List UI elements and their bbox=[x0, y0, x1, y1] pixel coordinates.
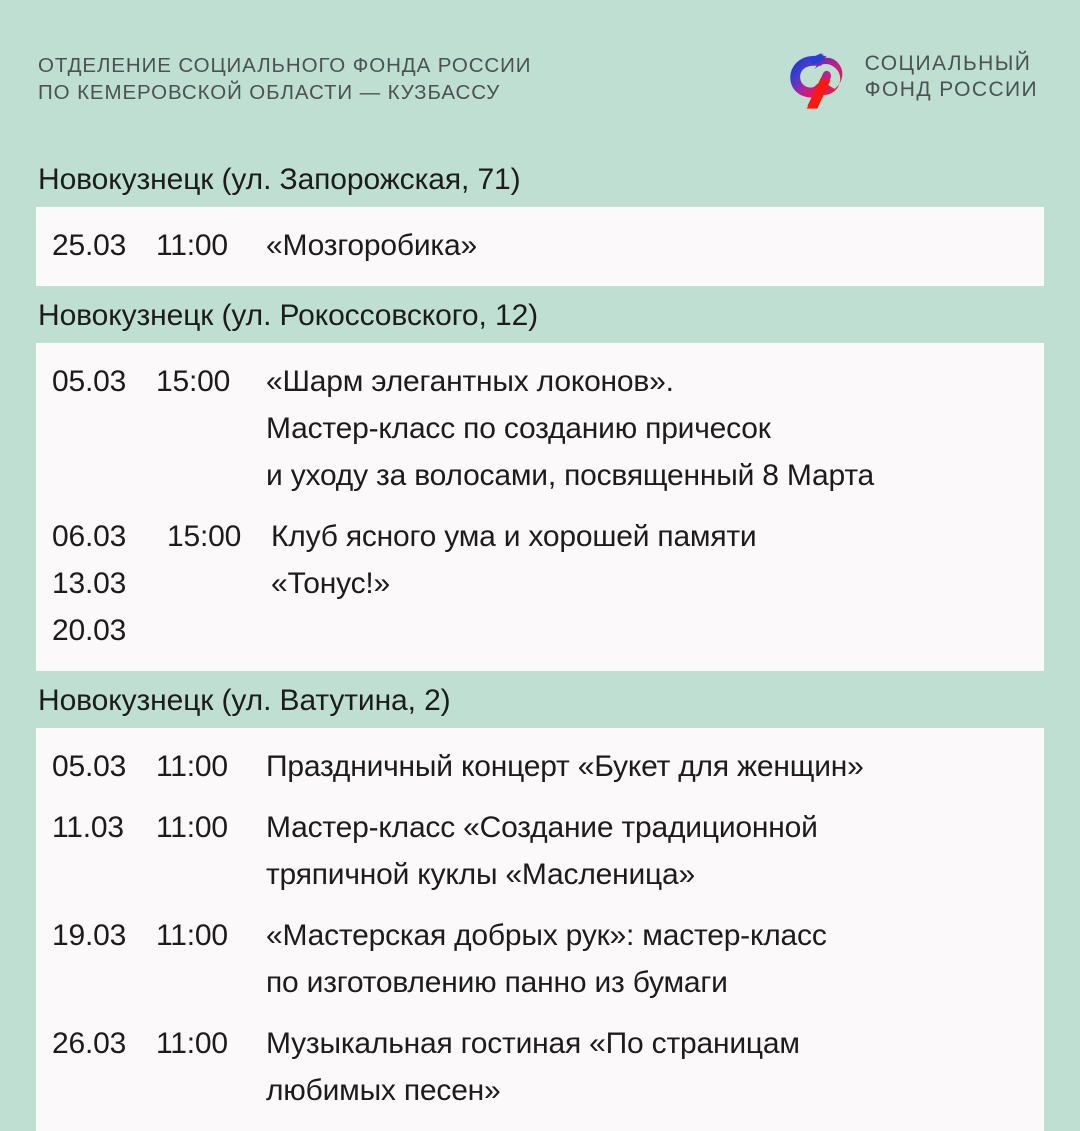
row-date: 26.03 bbox=[44, 1020, 156, 1067]
venue-title: Новокузнецк (ул. Рокоссовского, 12) bbox=[36, 286, 1044, 343]
row-date: 11.03 bbox=[44, 804, 156, 851]
schedule-row: 05.0311:00Праздничный концерт «Букет для… bbox=[36, 743, 1044, 790]
brand-lockup: СОЦИАЛЬНЫЙ ФОНД РОССИИ bbox=[783, 44, 1042, 110]
schedule-row: 05.0315:00«Шарм элегантных локонов». Мас… bbox=[36, 358, 1044, 499]
row-description: Клуб ясного ума и хорошей памяти «Тонус!… bbox=[271, 513, 1036, 607]
row-time: 11:00 bbox=[156, 1020, 266, 1067]
row-date: 19.03 bbox=[44, 912, 156, 959]
row-date: 05.03 bbox=[44, 358, 156, 405]
row-description: Праздничный концерт «Букет для женщин» bbox=[266, 743, 1036, 790]
row-time: 11:00 bbox=[156, 912, 266, 959]
row-date: 25.03 bbox=[44, 222, 156, 269]
row-description: «Шарм элегантных локонов». Мастер-класс … bbox=[266, 358, 1036, 499]
sfr-monogram-icon bbox=[783, 44, 849, 110]
venue-title: Новокузнецк (ул. Запорожская, 71) bbox=[36, 150, 1044, 207]
row-time: 15:00 bbox=[156, 358, 266, 405]
row-date: 05.03 bbox=[44, 743, 156, 790]
row-time: 15:00 bbox=[161, 513, 271, 560]
row-description: «Мозгоробика» bbox=[266, 222, 1036, 269]
row-date: 06.03 13.03 20.03 bbox=[44, 513, 156, 654]
row-time: 11:00 bbox=[156, 804, 266, 851]
schedule-row: 19.0311:00«Мастерская добрых рук»: масте… bbox=[36, 912, 1044, 1006]
schedule-sections: Новокузнецк (ул. Запорожская, 71)25.0311… bbox=[0, 150, 1080, 1131]
schedule-row: 06.03 13.03 20.0315:00Клуб ясного ума и … bbox=[36, 513, 1044, 654]
venue-block: Новокузнецк (ул. Рокоссовского, 12)05.03… bbox=[36, 286, 1044, 671]
row-description: Музыкальная гостиная «По страницам любим… bbox=[266, 1020, 1036, 1114]
venue-block: Новокузнецк (ул. Ватутина, 2)05.0311:00П… bbox=[36, 671, 1044, 1131]
venue-title: Новокузнецк (ул. Ватутина, 2) bbox=[36, 671, 1044, 728]
schedule-card: 05.0315:00«Шарм элегантных локонов». Мас… bbox=[36, 343, 1044, 671]
schedule-row: 26.0311:00Музыкальная гостиная «По стран… bbox=[36, 1020, 1044, 1114]
poster-page: ОТДЕЛЕНИЕ СОЦИАЛЬНОГО ФОНДА РОССИИ ПО КЕ… bbox=[0, 0, 1080, 1080]
schedule-card: 25.0311:00«Мозгоробика» bbox=[36, 207, 1044, 286]
row-description: «Мастерская добрых рук»: мастер-класс по… bbox=[266, 912, 1036, 1006]
schedule-row: 25.0311:00«Мозгоробика» bbox=[36, 222, 1044, 269]
row-time: 11:00 bbox=[156, 743, 266, 790]
row-time: 11:00 bbox=[156, 222, 266, 269]
schedule-row: 11.0311:00Мастер-класс «Создание традици… bbox=[36, 804, 1044, 898]
organization-title: ОТДЕЛЕНИЕ СОЦИАЛЬНОГО ФОНДА РОССИИ ПО КЕ… bbox=[38, 52, 531, 106]
venue-block: Новокузнецк (ул. Запорожская, 71)25.0311… bbox=[36, 150, 1044, 286]
poster-header: ОТДЕЛЕНИЕ СОЦИАЛЬНОГО ФОНДА РОССИИ ПО КЕ… bbox=[0, 0, 1080, 150]
row-description: Мастер-класс «Создание традиционной тряп… bbox=[266, 804, 1036, 898]
brand-name: СОЦИАЛЬНЫЙ ФОНД РОССИИ bbox=[865, 51, 1038, 103]
schedule-card: 05.0311:00Праздничный концерт «Букет для… bbox=[36, 728, 1044, 1131]
